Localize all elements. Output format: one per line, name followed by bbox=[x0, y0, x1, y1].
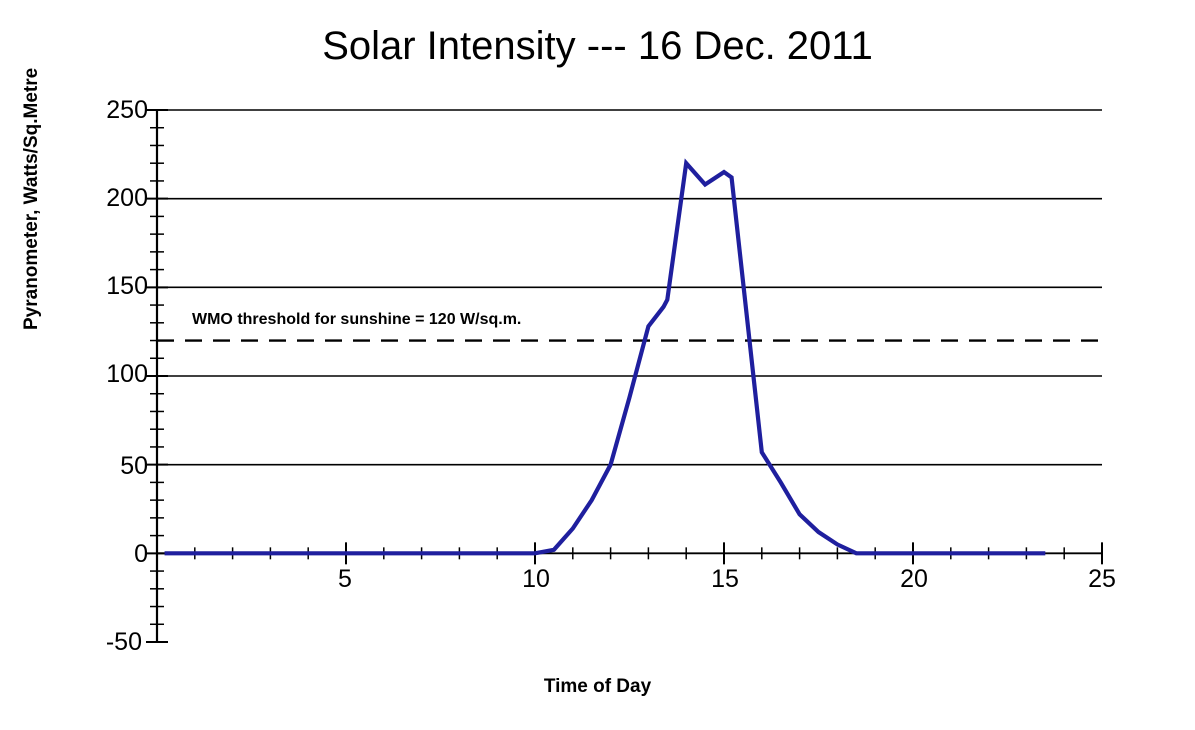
plot-area bbox=[0, 0, 1195, 730]
data-series-group bbox=[165, 163, 1046, 553]
series-line-0 bbox=[165, 163, 1046, 553]
chart-figure: Solar Intensity --- 16 Dec. 2011 Pyranom… bbox=[0, 0, 1195, 730]
gridlines-group bbox=[157, 110, 1102, 465]
